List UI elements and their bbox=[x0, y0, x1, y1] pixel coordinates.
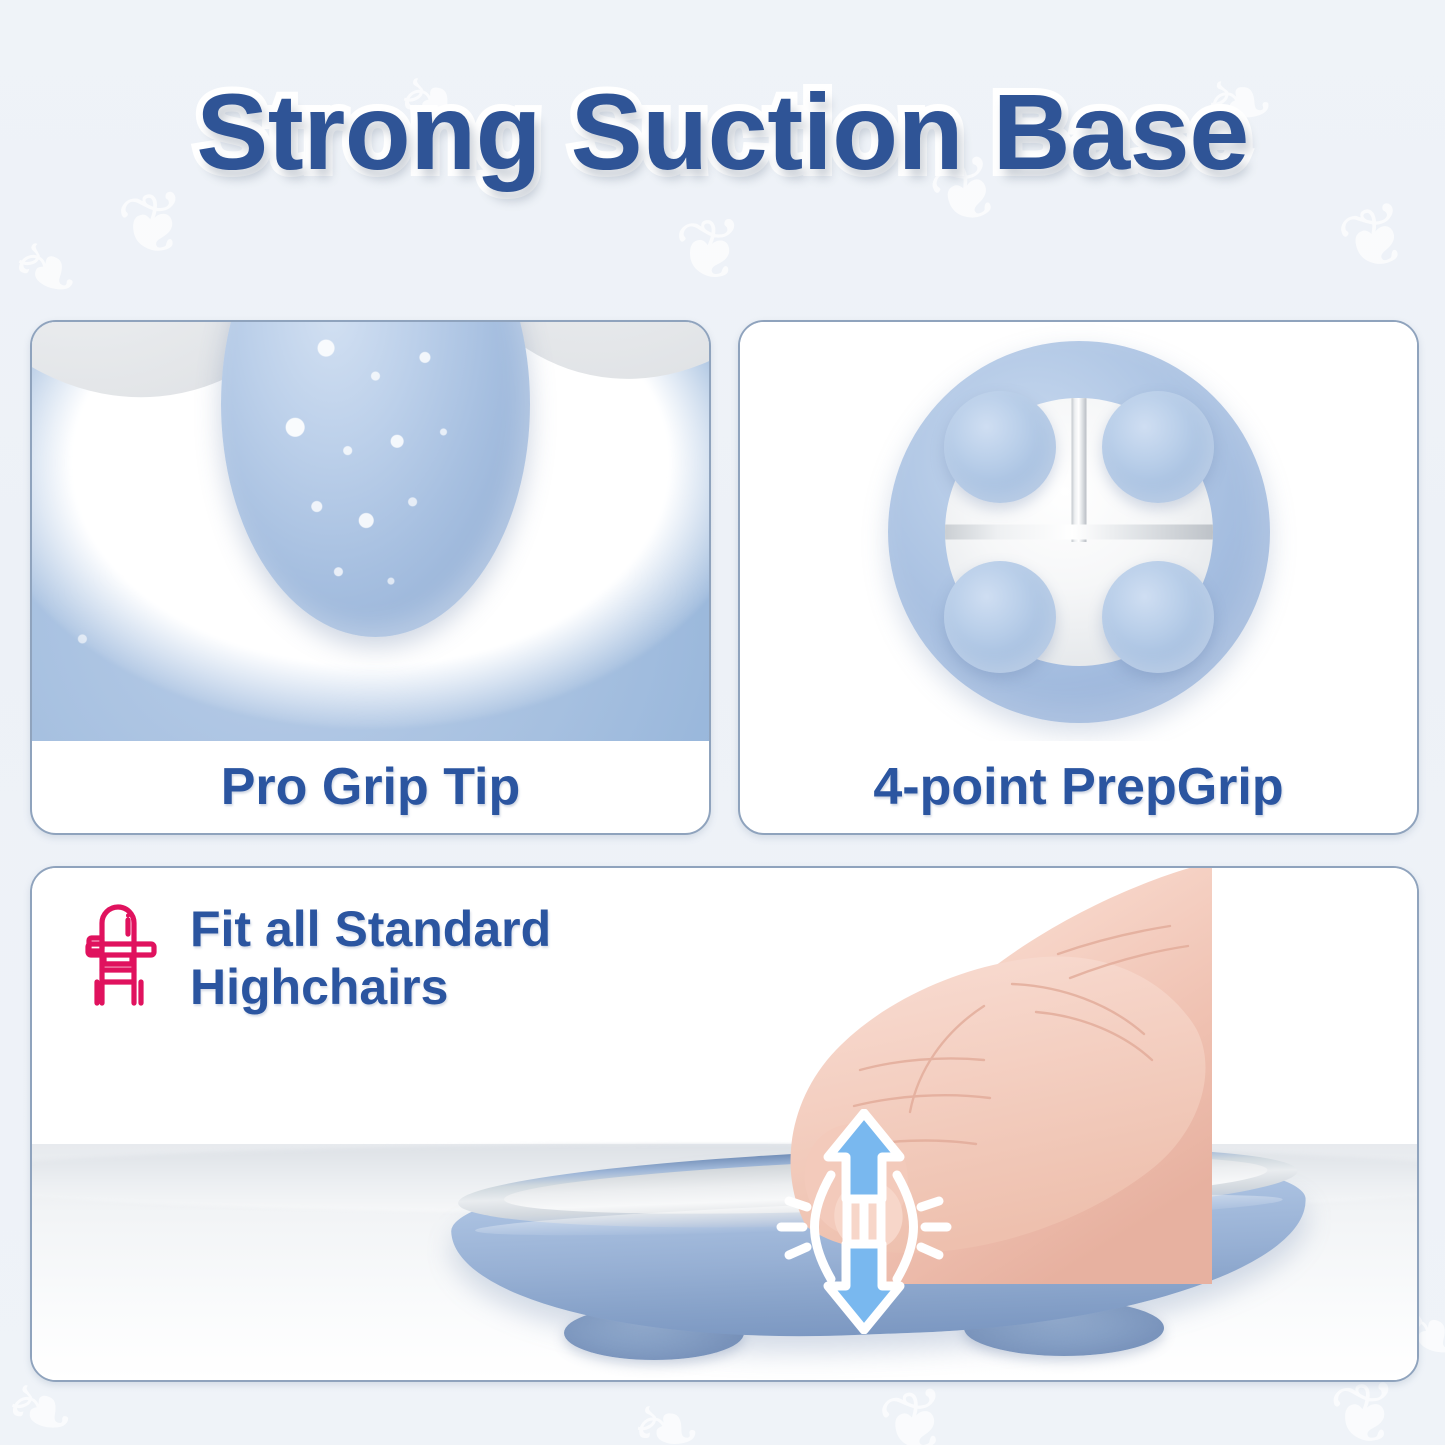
fit-heading-group: Fit all Standard Highchairs bbox=[80, 900, 551, 1016]
suction-cup-bottom-left bbox=[944, 561, 1056, 673]
swirl-doodle: ❧ bbox=[0, 216, 98, 323]
feature-card-four-point-prepgrip: 4-point PrepGrip bbox=[738, 320, 1419, 835]
caption-pro-grip-tip: Pro Grip Tip bbox=[32, 741, 709, 833]
highchair-icon bbox=[80, 904, 164, 1008]
page-title: Strong Suction Base bbox=[196, 69, 1249, 194]
product-infographic: ❦ ❧ ❦ ❧ ❦ ❧ ❦ ❧ ❦ ❧ ❦ ❧ Strong Suction B… bbox=[0, 0, 1445, 1445]
four-point-base-photo bbox=[740, 322, 1417, 741]
fit-heading: Fit all Standard Highchairs bbox=[190, 900, 551, 1016]
cross-rib-vertical bbox=[1071, 398, 1086, 543]
header: Strong Suction Base bbox=[0, 56, 1445, 206]
silicone-bowl-underside bbox=[32, 322, 709, 741]
suction-cup-bottom-right bbox=[1102, 561, 1214, 673]
fit-heading-line-1: Fit all Standard bbox=[190, 900, 551, 958]
caption-four-point-prepgrip: 4-point PrepGrip bbox=[740, 741, 1417, 833]
suction-force-icon bbox=[769, 1109, 959, 1334]
pro-grip-tip-photo bbox=[32, 322, 709, 741]
swirl-doodle: ❦ bbox=[672, 206, 748, 295]
swirl-doodle: ❧ bbox=[625, 1381, 709, 1445]
water-mist bbox=[32, 345, 709, 741]
suction-cup-top-right bbox=[1102, 391, 1214, 503]
arrow-up-icon bbox=[828, 1113, 900, 1199]
swirl-doodle: ❦ bbox=[872, 1374, 958, 1445]
feature-card-fit-highchairs: Fit all Standard Highchairs bbox=[30, 866, 1419, 1382]
suction-tip-closeup-illustration bbox=[32, 322, 709, 741]
arrow-down-icon bbox=[828, 1244, 900, 1330]
fit-heading-line-2: Highchairs bbox=[190, 958, 551, 1016]
base-bottom-view-illustration bbox=[740, 322, 1417, 741]
silicone-base-ring bbox=[888, 341, 1270, 723]
suction-cup-top-left bbox=[944, 391, 1056, 503]
feature-card-pro-grip-tip: Pro Grip Tip bbox=[30, 320, 711, 835]
highchair-fit-photo: Fit all Standard Highchairs bbox=[32, 868, 1417, 1380]
cross-rib-horizontal bbox=[945, 524, 1213, 539]
